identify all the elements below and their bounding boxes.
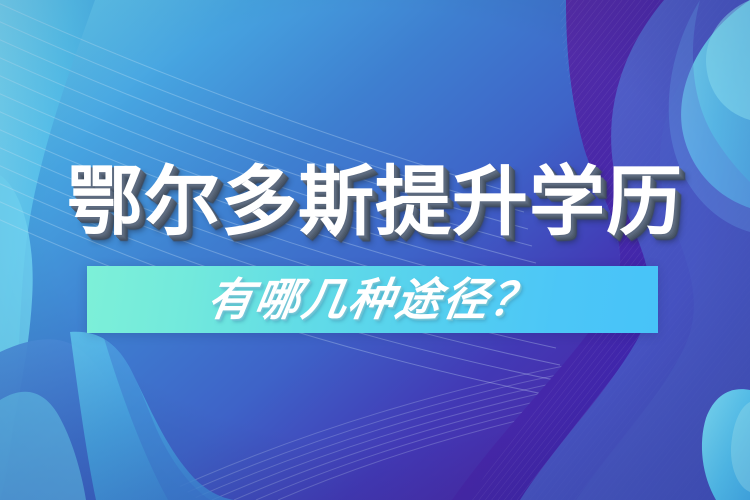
banner-subtitle-bar: 有哪几种途径？ <box>87 266 658 333</box>
banner-subtitle-text: 有哪几种途径？ <box>204 277 540 322</box>
promo-banner: 鄂尔多斯提升学历 有哪几种途径？ <box>0 0 750 500</box>
banner-title: 鄂尔多斯提升学历 <box>0 152 750 252</box>
banner-title-text: 鄂尔多斯提升学历 <box>67 164 683 240</box>
